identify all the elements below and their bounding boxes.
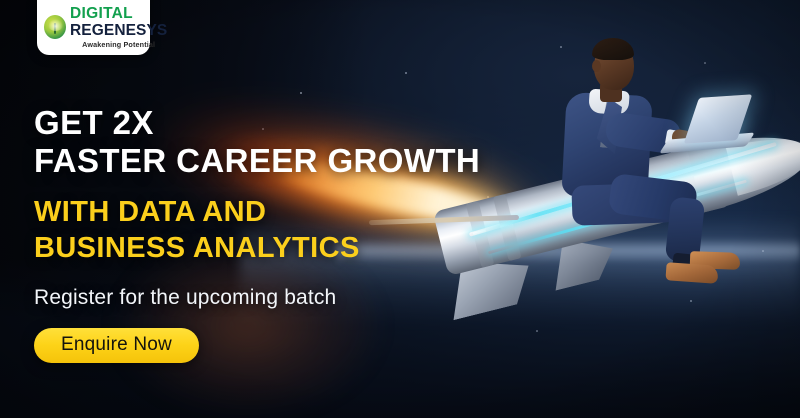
- logo-tagline: Awakening Potential: [70, 41, 167, 48]
- enquire-now-button[interactable]: Enquire Now: [34, 328, 199, 363]
- logo-line-digital: DIGITAL: [70, 6, 167, 22]
- shoe-front: [665, 262, 718, 284]
- copy-block: GET 2X FASTER CAREER GROWTH WITH DATA AN…: [34, 104, 504, 363]
- brand-logo[interactable]: DIGITAL REGENESYS Awakening Potential: [37, 0, 150, 55]
- promo-banner: DIGITAL REGENESYS Awakening Potential GE…: [0, 0, 800, 418]
- headline-line-1: GET 2X: [34, 104, 504, 142]
- subtitle-text: Register for the upcoming batch: [34, 286, 504, 310]
- ear: [592, 60, 601, 72]
- logo-line-regenesys: REGENESYS: [70, 23, 167, 39]
- laptop-icon: [666, 96, 762, 158]
- headline-line-2: FASTER CAREER GROWTH: [34, 142, 504, 180]
- businessman-figure: [520, 38, 695, 250]
- tree-emblem-icon: [44, 15, 66, 39]
- subheadline-line-1: WITH DATA AND: [34, 196, 504, 230]
- subheadline-line-2: BUSINESS ANALYTICS: [34, 232, 504, 266]
- hair: [592, 38, 634, 60]
